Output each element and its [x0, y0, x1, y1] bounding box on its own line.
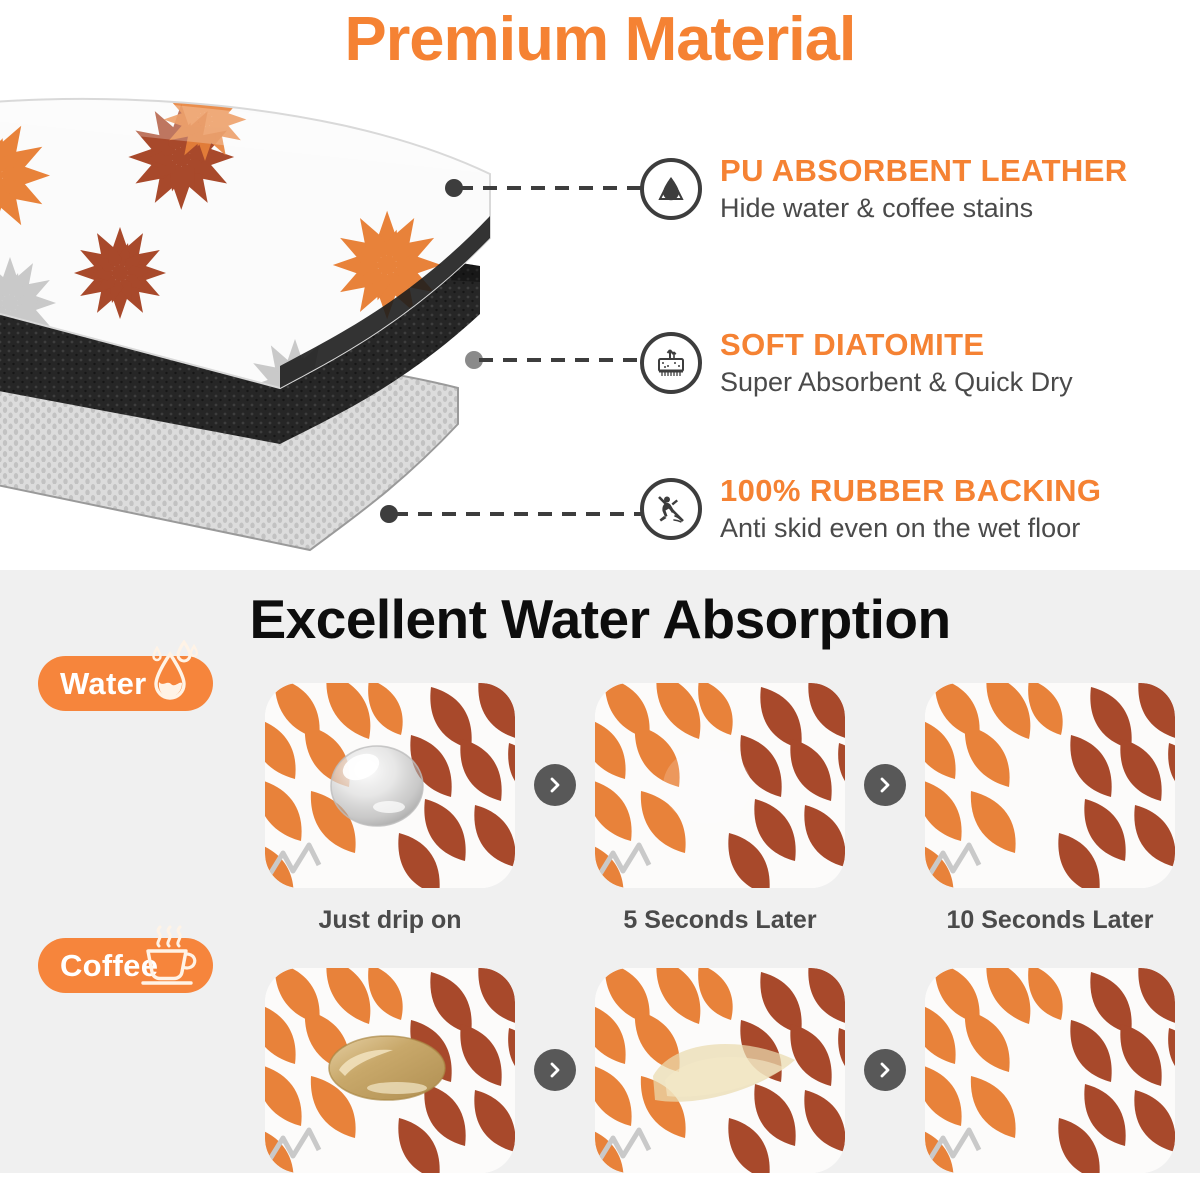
- feature-text-block: PU ABSORBENT LEATHER Hide water & coffee…: [720, 152, 1128, 226]
- connector-dash-diatomite: [479, 358, 645, 362]
- chevron-right-icon: [864, 1049, 906, 1091]
- premium-material-section: Premium Material: [0, 0, 1200, 570]
- infographic-page: Premium Material: [0, 0, 1200, 1173]
- water-step-caption-1: Just drip on: [265, 905, 515, 935]
- connector-dash-rubber-backing: [394, 512, 645, 516]
- page-title-premium-material: Premium Material: [0, 2, 1200, 78]
- coffee-step-tiles: [265, 955, 1185, 1185]
- feature-text-block: 100% RUBBER BACKING Anti skid even on th…: [720, 472, 1101, 546]
- feature-subtitle: Anti skid even on the wet floor: [720, 510, 1101, 546]
- water-step-caption-3: 10 Seconds Later: [925, 905, 1175, 935]
- feature-title: 100% RUBBER BACKING: [720, 472, 1101, 510]
- feature-rubber-backing: 100% RUBBER BACKING Anti skid even on th…: [640, 472, 1101, 546]
- chevron-right-icon: [534, 1049, 576, 1091]
- diatomite-brush-icon: [640, 332, 702, 394]
- connector-line-pu-leather: [445, 186, 645, 190]
- feature-title: SOFT DIATOMITE: [720, 326, 1073, 364]
- feature-text-block: SOFT DIATOMITE Super Absorbent & Quick D…: [720, 326, 1073, 400]
- water-step-tile-3: [925, 683, 1175, 888]
- water-step-tile-2: [595, 683, 845, 888]
- water-step-caption-2: 5 Seconds Later: [595, 905, 845, 935]
- feature-pu-absorbent-leather: PU ABSORBENT LEATHER Hide water & coffee…: [640, 152, 1128, 226]
- coffee-step-tile-1: [265, 968, 515, 1173]
- coffee-step-tile-3: [925, 968, 1175, 1173]
- feature-subtitle: Super Absorbent & Quick Dry: [720, 364, 1073, 400]
- connector-dash-pu-leather: [459, 186, 645, 190]
- feature-title: PU ABSORBENT LEATHER: [720, 152, 1128, 190]
- coffee-absorption-row: [0, 955, 1200, 1185]
- coffee-step-tile-2: [595, 968, 845, 1173]
- water-absorption-section: Excellent Water Absorption Water: [0, 570, 1200, 1173]
- feature-subtitle: Hide water & coffee stains: [720, 190, 1128, 226]
- water-step-tile-1: [265, 683, 515, 888]
- connector-line-diatomite: [465, 358, 645, 362]
- feature-soft-diatomite: SOFT DIATOMITE Super Absorbent & Quick D…: [640, 326, 1073, 400]
- water-step-tiles: [265, 670, 1185, 900]
- chevron-right-icon: [864, 764, 906, 806]
- chevron-right-icon: [534, 764, 576, 806]
- water-drop-on-mat-icon: [640, 158, 702, 220]
- water-absorption-row: Just drip on 5 Seconds Later 10 Seconds …: [0, 670, 1200, 900]
- product-layered-mat-image: [0, 88, 560, 568]
- no-slipping-person-icon: [640, 478, 702, 540]
- connector-line-rubber-backing: [380, 512, 645, 516]
